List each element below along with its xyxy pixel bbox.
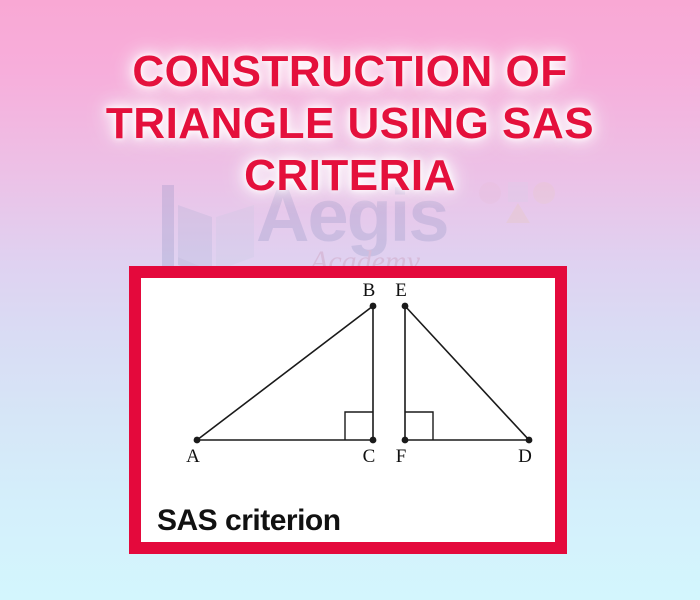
poster-canvas: Aegis Academy CONSTRUCTION OF TRIANGLE U…	[0, 0, 700, 600]
triangle-abc-vertex-label-a: A	[186, 446, 200, 467]
sas-triangles-figure: ABCEFD	[141, 278, 555, 478]
triangle-abc-vertex-dot-b	[370, 303, 377, 310]
triangle-abc-vertex-dot-c	[370, 437, 377, 444]
triangle-def-vertex-label-e: E	[395, 280, 407, 301]
triangle-def-outline	[405, 306, 529, 440]
triangle-def-vertex-dot-f	[402, 437, 409, 444]
triangle-def-vertex-label-f: F	[396, 446, 407, 467]
triangle-abc-right-angle-mark	[345, 412, 373, 440]
triangle-def-vertex-label-d: D	[518, 446, 532, 467]
diagram-inner: ABCEFD SAS criterion	[141, 278, 555, 542]
triangle-abc-vertex-label-b: B	[363, 280, 376, 301]
triangle-abc-outline	[197, 306, 373, 440]
triangle-abc-vertex-label-c: C	[363, 446, 376, 467]
triangle-def-vertex-dot-d	[526, 437, 533, 444]
figure-caption: SAS criterion	[157, 506, 341, 536]
triangle-def-vertex-dot-e	[402, 303, 409, 310]
diagram-card: ABCEFD SAS criterion	[129, 266, 567, 554]
page-title: CONSTRUCTION OF TRIANGLE USING SAS CRITE…	[50, 46, 650, 202]
triangle-def-right-angle-mark	[405, 412, 433, 440]
triangle-abc-vertex-dot-a	[194, 437, 201, 444]
